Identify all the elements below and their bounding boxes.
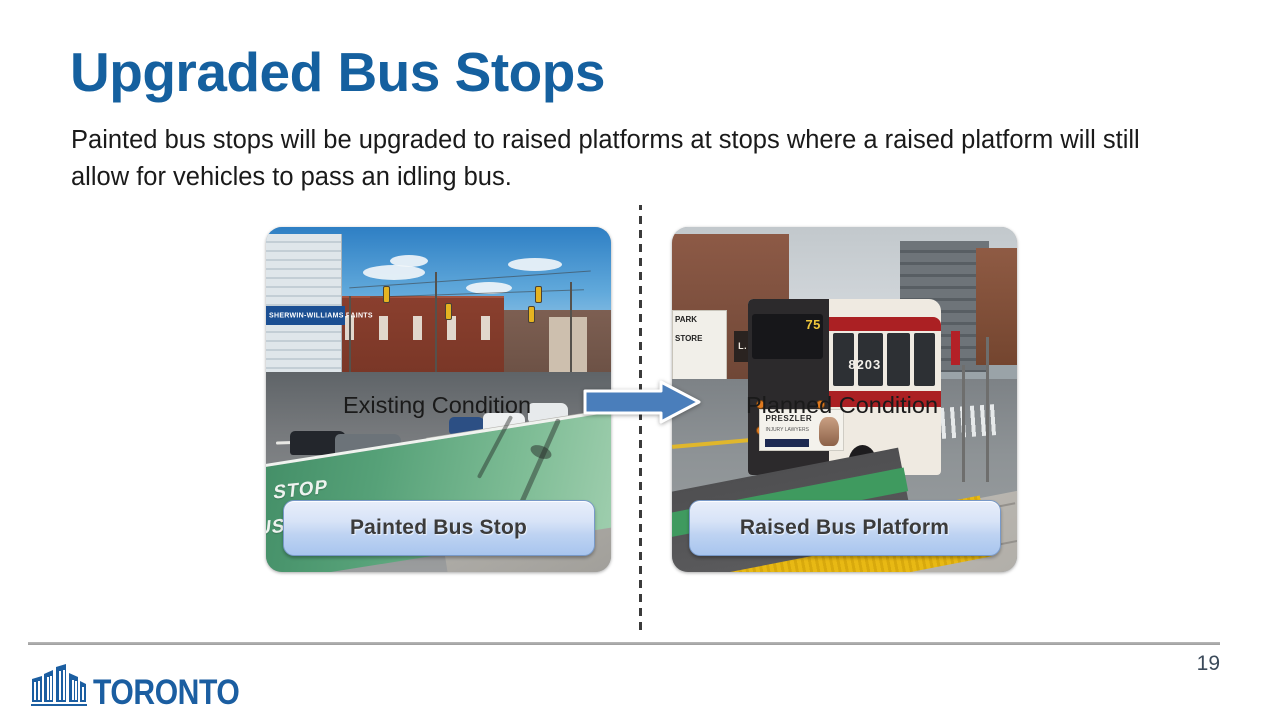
- brick-storefront-row: [332, 296, 505, 372]
- bus-ad-subtitle: INJURY LAWYERS: [765, 427, 809, 433]
- utility-pole: [570, 282, 572, 372]
- page-title: Upgraded Bus Stops: [70, 44, 605, 102]
- paint-store-sign: [266, 306, 345, 325]
- glass-building: [266, 234, 342, 372]
- utility-pole: [349, 296, 351, 379]
- bus-window: [914, 333, 935, 386]
- sign-pole: [962, 365, 965, 482]
- storefront-sign-park-store: [672, 310, 727, 386]
- bus-red-stripe: [829, 317, 941, 331]
- traffic-light: [528, 306, 535, 323]
- slide: Upgraded Bus Stops Painted bus stops wil…: [0, 0, 1280, 720]
- toronto-logo: TORONTO: [31, 664, 263, 708]
- cloud: [508, 258, 562, 271]
- traffic-light: [535, 286, 542, 303]
- ttc-bus: 75 8203 PRESZLER INJURY LAWYERS: [748, 299, 941, 475]
- utility-pole: [435, 272, 437, 376]
- comparison-area: Painted Bus Stop: [0, 200, 1280, 640]
- bus-stop-pole-sign: [951, 331, 960, 365]
- cloud: [390, 255, 428, 267]
- chip-label: Raised Bus Platform: [740, 516, 949, 540]
- caption-existing-condition: Existing Condition: [257, 392, 617, 419]
- bus-ad-contact-bar: [765, 439, 808, 446]
- background-building: [549, 317, 587, 372]
- bus-fleet-number: 8203: [848, 357, 881, 372]
- caption-planned-condition: Planned Condition: [662, 392, 1022, 419]
- subtitle-text: Painted bus stops will be upgraded to ra…: [71, 122, 1191, 196]
- toronto-towers-logo-icon: [31, 664, 87, 708]
- chip-label: Painted Bus Stop: [350, 516, 527, 540]
- bus-route-number: 75: [805, 317, 820, 332]
- toronto-wordmark: TORONTO: [93, 677, 239, 709]
- cloud: [363, 265, 425, 280]
- footer-divider: [28, 642, 1220, 645]
- chip-painted-bus-stop[interactable]: Painted Bus Stop: [283, 500, 595, 556]
- traffic-light: [445, 303, 452, 320]
- page-number: 19: [1197, 652, 1220, 676]
- brick-building-right: [976, 248, 1017, 365]
- chip-raised-bus-platform[interactable]: Raised Bus Platform: [689, 500, 1001, 556]
- traffic-light: [383, 286, 390, 303]
- bus-ad-portrait: [819, 417, 839, 446]
- bus-window: [887, 333, 910, 386]
